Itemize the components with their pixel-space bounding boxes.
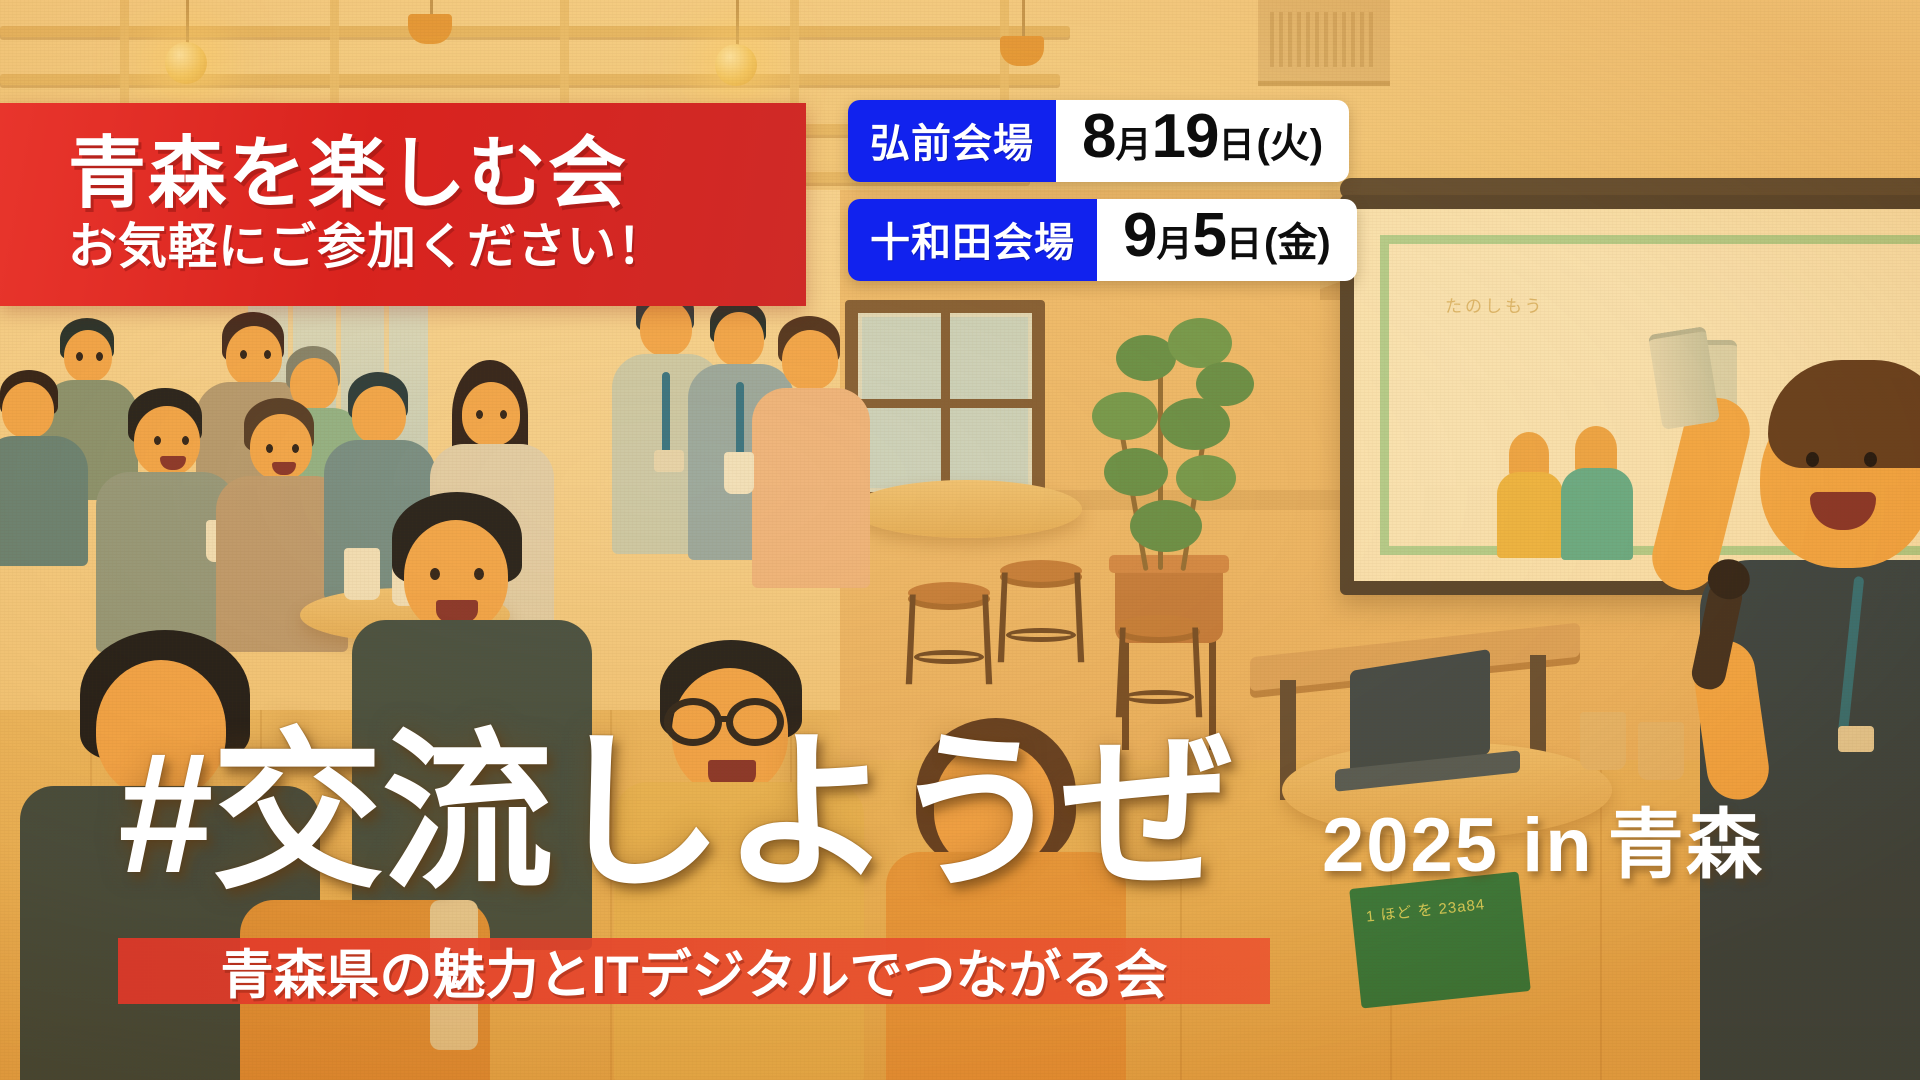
date-row-towada: 十和田会場 9 月 5 日 (金) (848, 199, 1357, 281)
date-value-hirosaki: 8 月 19 日 (火) (1056, 100, 1349, 182)
year-label: 2025 in (1322, 803, 1594, 888)
venue-label-towada: 十和田会場 (848, 199, 1097, 281)
event-poster: たのしもう (0, 0, 1920, 1080)
poster-text-layer: 青森を楽しむ会 お気軽にご参加ください！ 弘前会場 8 月 19 日 (火) 十… (0, 0, 1920, 1080)
banner-title: 青森を楽しむ会 (68, 134, 806, 214)
day-number: 5 (1193, 205, 1226, 267)
venue-label-hirosaki: 弘前会場 (848, 100, 1056, 182)
main-headline: #交流しようぜ (118, 727, 1232, 899)
weekday-label: (火) (1256, 124, 1323, 164)
month-unit: 月 (1156, 226, 1192, 262)
day-unit: 日 (1226, 226, 1262, 262)
date-value-towada: 9 月 5 日 (金) (1097, 199, 1357, 281)
title-banner: 青森を楽しむ会 お気軽にご参加ください！ (0, 103, 806, 306)
tagline-text: 青森県の魅力とITデジタルでつながる会 (220, 933, 1167, 1009)
date-row-hirosaki: 弘前会場 8 月 19 日 (火) (848, 100, 1349, 182)
day-unit: 日 (1218, 127, 1254, 163)
weekday-label: (金) (1264, 223, 1331, 263)
date-list: 弘前会場 8 月 19 日 (火) 十和田会場 9 月 5 日 (金) (848, 100, 1357, 298)
year-location: 2025 in青森 (1322, 808, 1764, 884)
month-unit: 月 (1115, 127, 1151, 163)
month-number: 8 (1082, 106, 1115, 168)
day-number: 19 (1152, 106, 1219, 168)
year-place: 青森 (1608, 803, 1764, 888)
tagline-strip: 青森県の魅力とITデジタルでつながる会 (118, 938, 1270, 1004)
month-number: 9 (1123, 205, 1156, 267)
banner-subtitle: お気軽にご参加ください！ (68, 220, 806, 275)
